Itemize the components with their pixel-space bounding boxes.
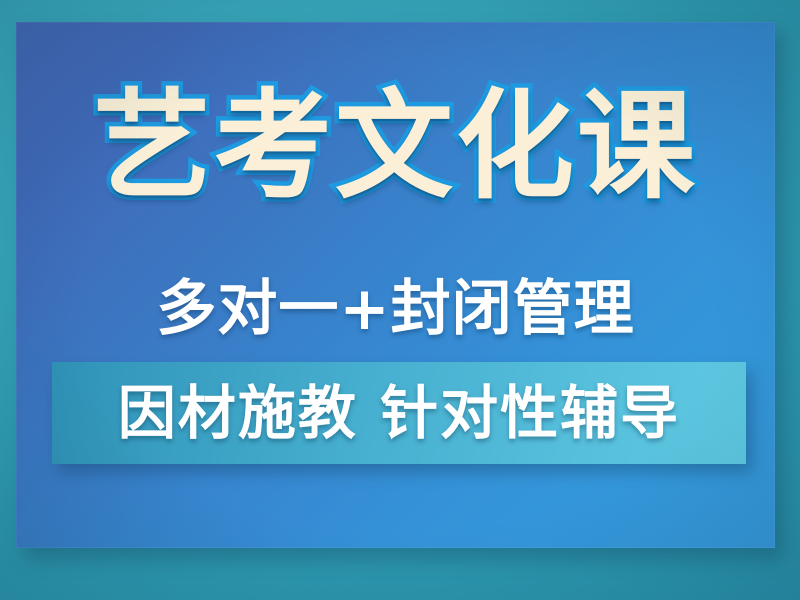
poster-canvas: 艺考文化课 多对一+封闭管理 因材施教 针对性辅导 [0, 0, 800, 600]
subtitle-text: 多对一+封闭管理 [16, 274, 775, 344]
feature-banner: 因材施教 针对性辅导 [52, 362, 746, 464]
page-title: 艺考文化课 [16, 80, 775, 212]
feature-banner-label: 因材施教 针对性辅导 [118, 382, 680, 444]
